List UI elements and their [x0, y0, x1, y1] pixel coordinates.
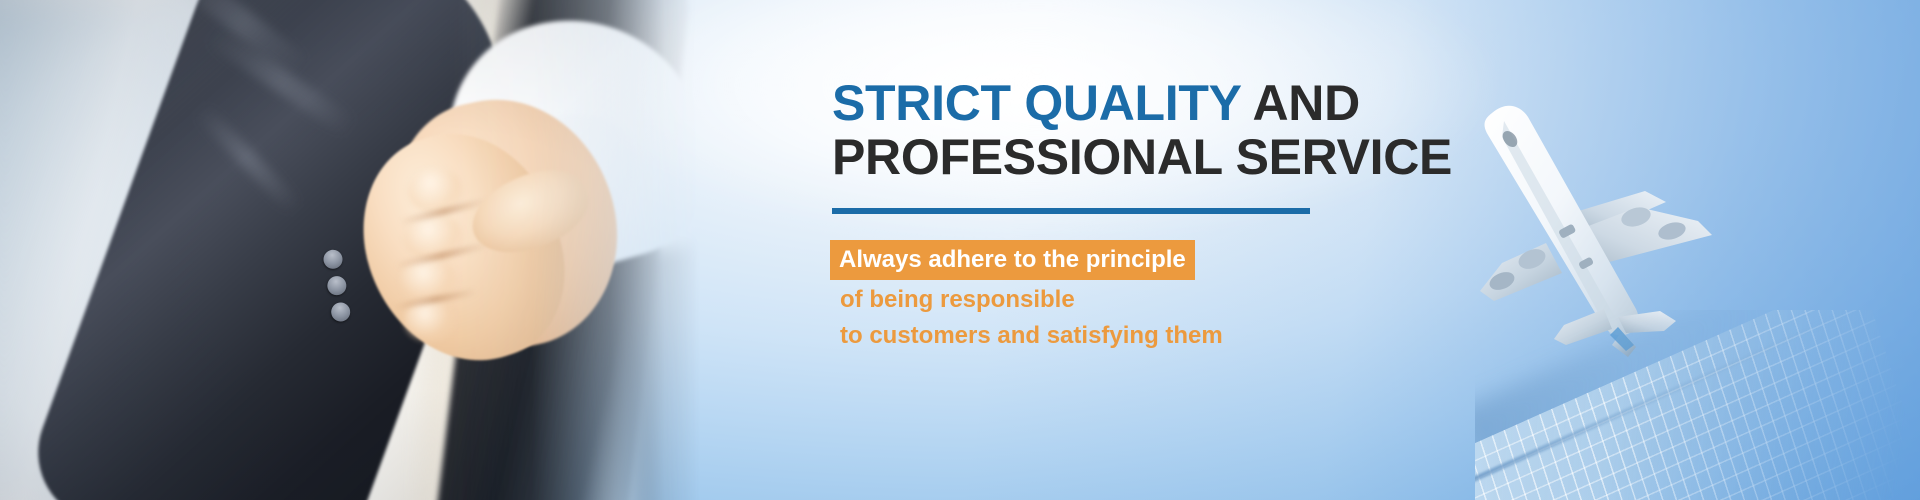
- headline-line-1: STRICT QUALITY AND: [832, 76, 1472, 130]
- building-photo: [1475, 310, 1905, 500]
- promo-banner: STRICT QUALITY AND PROFESSIONAL SERVICE …: [0, 0, 1920, 500]
- headline-rest-text: AND: [1241, 75, 1360, 131]
- subtitle-highlight-row: Always adhere to the principle: [832, 240, 1472, 280]
- divider-rule: [832, 208, 1310, 214]
- headline-line-2: PROFESSIONAL SERVICE: [832, 130, 1472, 184]
- subtitle-block: Always adhere to the principle of being …: [832, 240, 1472, 352]
- subtitle-highlight-text: Always adhere to the principle: [830, 240, 1195, 280]
- photo-vignette: [0, 0, 700, 500]
- subtitle-line-2: of being responsible: [832, 283, 1472, 316]
- subtitle-line-3: to customers and satisfying them: [832, 319, 1472, 352]
- banner-content: STRICT QUALITY AND PROFESSIONAL SERVICE …: [832, 76, 1472, 352]
- handshake-photo: [0, 0, 700, 500]
- headline-accent-text: STRICT QUALITY: [832, 75, 1241, 131]
